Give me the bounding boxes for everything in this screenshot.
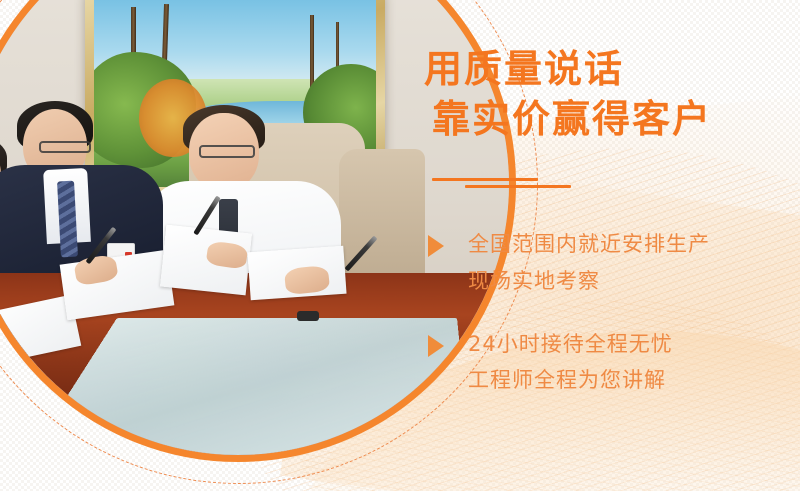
wristwatch (297, 311, 319, 321)
feature-1-line-1: 全国范围内就近安排生产 (468, 226, 800, 263)
person-right-glasses (199, 145, 255, 158)
promotional-banner: 用质量说话 靠实价赢得客户 全国范围内就近安排生产 现场实地考察 24小时接待全… (0, 0, 800, 491)
feature-2-line-2: 工程师全程为您讲解 (468, 362, 800, 399)
feature-2-line-1: 24小时接待全程无忧 (468, 326, 800, 363)
person-center-glasses (39, 141, 91, 153)
chevron-right-icon (428, 235, 444, 257)
divider-rule-top (432, 178, 538, 181)
headline-line-1: 用质量说话 (424, 44, 764, 94)
feature-1-line-2: 现场实地考察 (468, 263, 800, 300)
feature-item-1: 全国范围内就近安排生产 现场实地考察 (424, 226, 800, 300)
feature-item-2: 24小时接待全程无忧 工程师全程为您讲解 (424, 326, 800, 400)
divider-rule-bottom (465, 185, 571, 188)
headline: 用质量说话 靠实价赢得客户 (424, 44, 764, 144)
content-column: 用质量说话 靠实价赢得客户 全国范围内就近安排生产 现场实地考察 24小时接待全… (424, 0, 800, 491)
headline-line-2: 靠实价赢得客户 (432, 94, 764, 144)
feature-list: 全国范围内就近安排生产 现场实地考察 24小时接待全程无忧 工程师全程为您讲解 (424, 226, 800, 425)
double-rule-divider (432, 176, 592, 192)
chevron-right-icon (428, 335, 444, 357)
